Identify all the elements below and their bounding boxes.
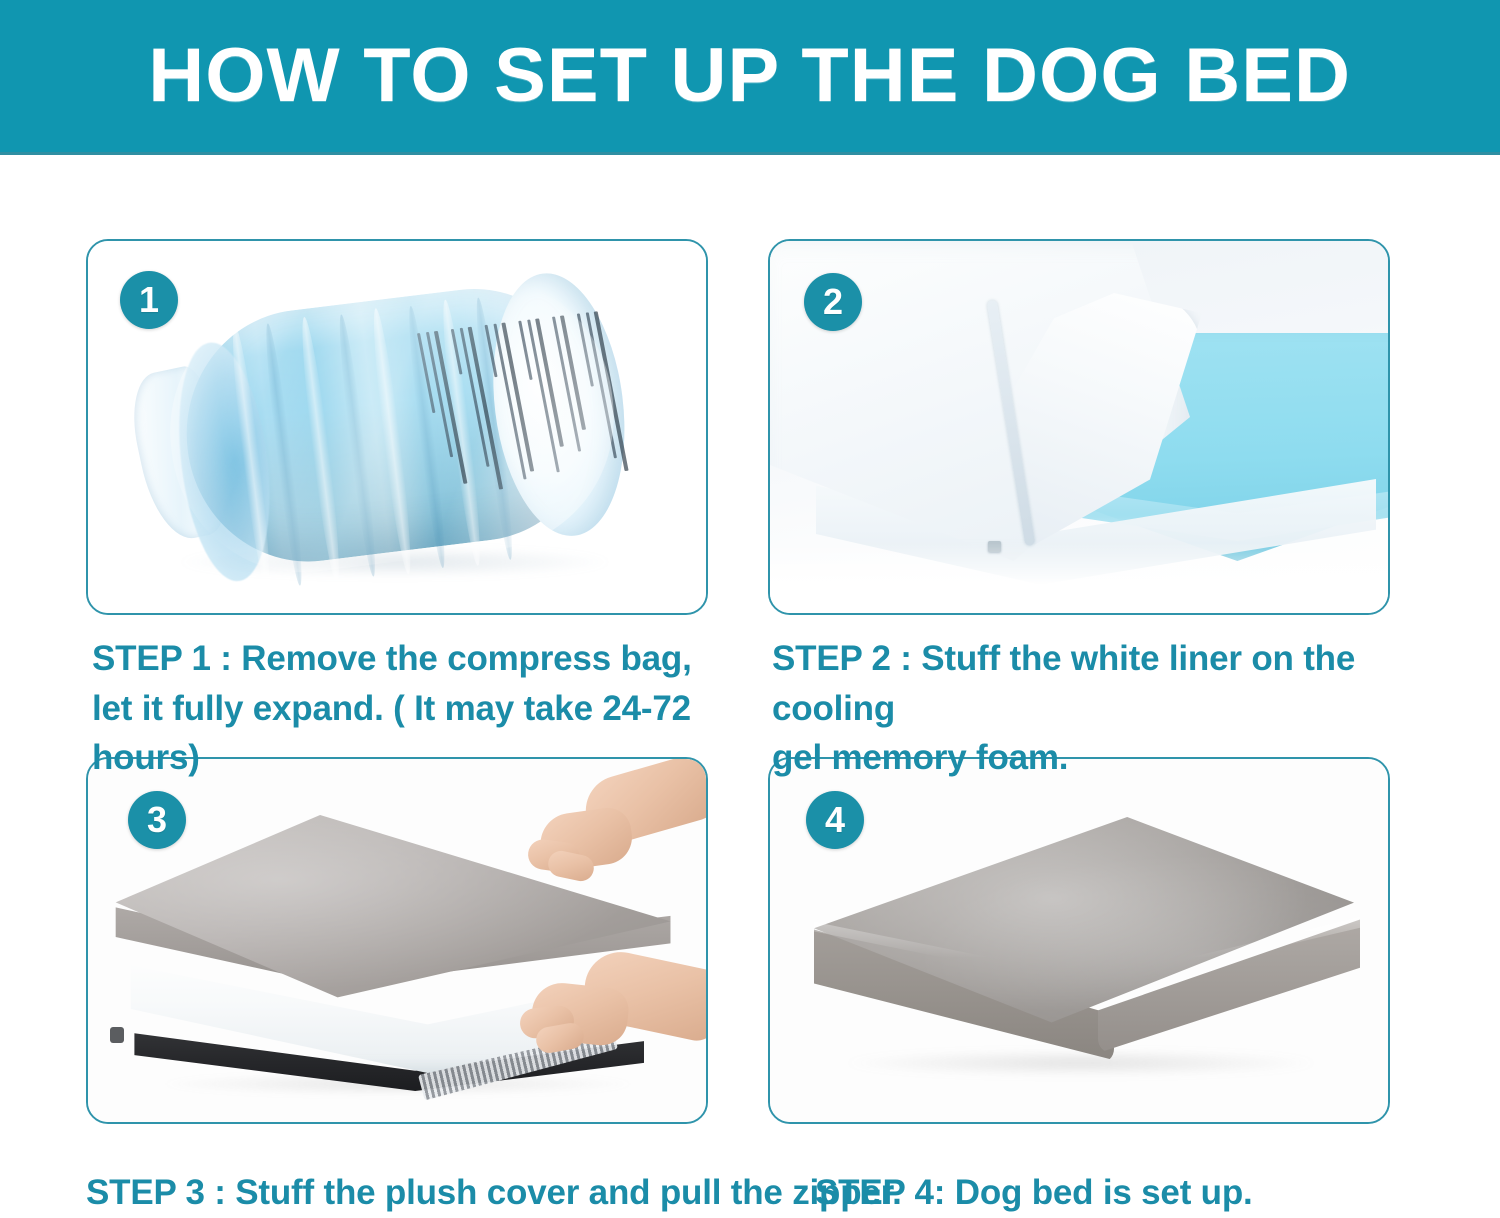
step-4-caption: STEP 4: Dog bed is set up.	[815, 1168, 1253, 1218]
step-card-3: 3	[86, 757, 708, 1124]
step-1-caption: STEP 1 : Remove the compress bag, let it…	[92, 634, 772, 783]
hand-icon	[526, 765, 706, 915]
step-1-photo	[88, 241, 706, 613]
step-number-badge-1: 1	[120, 271, 178, 329]
step-card-2: 2	[768, 239, 1390, 615]
step-card-4: 4	[768, 757, 1390, 1124]
header-banner: HOW TO SET UP THE DOG BED	[0, 0, 1500, 155]
step-number-badge-2: 2	[804, 273, 862, 331]
hand-icon	[520, 949, 706, 1089]
step-number-badge-4: 4	[806, 791, 864, 849]
step-3-caption: STEP 3 : Stuff the plush cover and pull …	[86, 1168, 902, 1218]
step-card-1: 1	[86, 239, 708, 615]
step-2-caption: STEP 2 : Stuff the white liner on the co…	[772, 634, 1472, 783]
step-number-badge-3: 3	[128, 791, 186, 849]
compressed-foam-roll-illustration	[152, 257, 633, 592]
warning-label-text	[375, 311, 631, 511]
step-2-photo	[770, 241, 1388, 613]
page-title: HOW TO SET UP THE DOG BED	[149, 38, 1352, 114]
